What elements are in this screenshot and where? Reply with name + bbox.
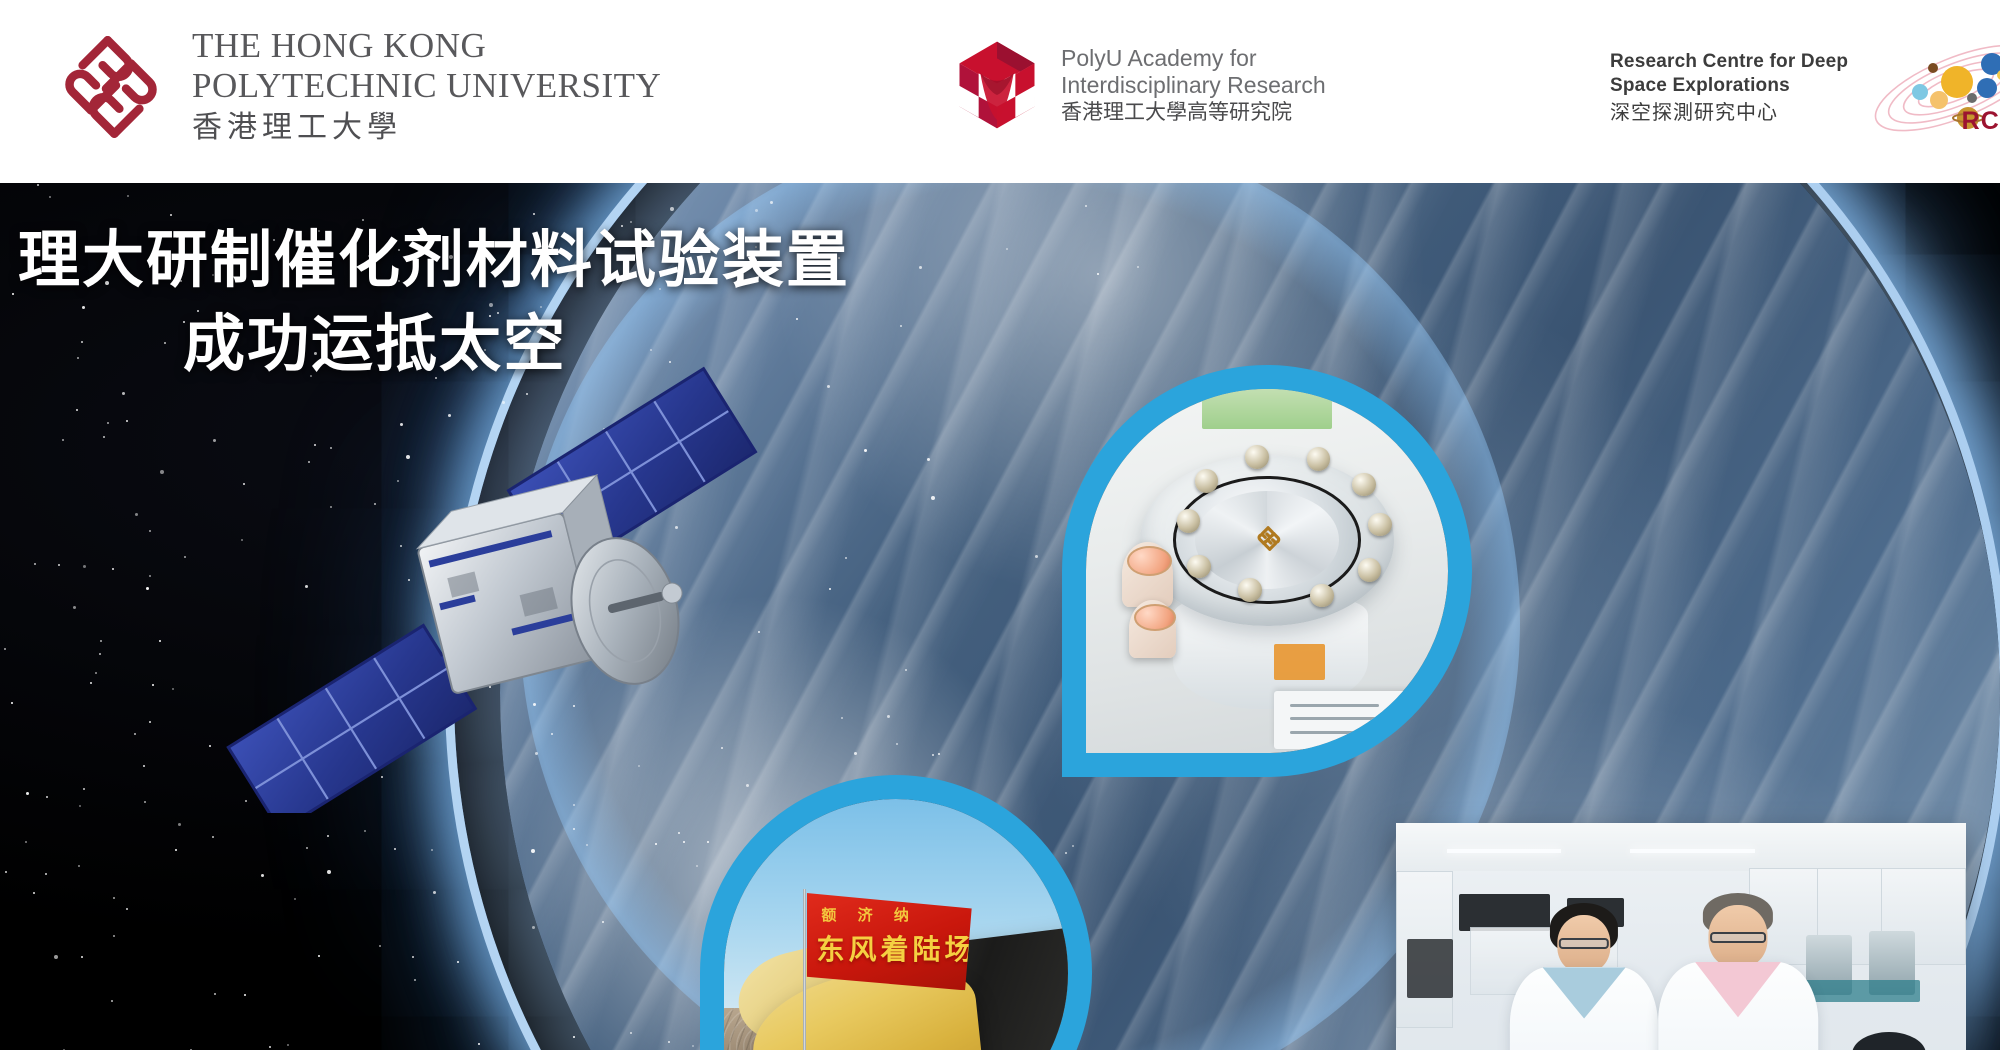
headline: 理大研制催化剂材料试验装置 成功运抵太空 — [0, 218, 920, 386]
apparatus-bolt — [1307, 447, 1331, 471]
rcdse-name-line1: Research Centre for Deep — [1610, 50, 1848, 74]
flag-text-top: 额 济 纳 — [821, 904, 916, 925]
apparatus-bolt — [1368, 513, 1392, 537]
headline-line-2: 成功运抵太空 — [0, 302, 920, 386]
headline-line-1: 理大研制催化剂材料试验装置 — [0, 218, 920, 302]
apparatus-bolt — [1245, 445, 1269, 469]
inset-photo-capsule: 额 济 纳 东风着陆场 — [724, 799, 1068, 1050]
apparatus-placard — [1274, 691, 1433, 749]
pair-wordmark: PolyU Academy for Interdisciplinary Rese… — [1061, 45, 1326, 126]
eyeglasses — [1559, 938, 1609, 949]
polyu-name-line1: THE HONG KONG — [192, 26, 661, 66]
lab-coat — [1658, 962, 1818, 1050]
lab-photo-researchers — [1396, 823, 1966, 1050]
apparatus-bolt — [1358, 558, 1382, 582]
polyu-name-line2: POLYTECHNIC UNIVERSITY — [192, 66, 661, 106]
polyu-wordmark: THE HONG KONG POLYTECHNIC UNIVERSITY 香港理… — [192, 26, 661, 147]
rcdse-wordmark: Research Centre for Deep Space Explorati… — [1610, 50, 1848, 126]
capsule-flag-pole — [803, 889, 806, 1050]
ceiling-light — [1447, 849, 1561, 853]
polyu-name-chinese: 香港理工大學 — [192, 109, 661, 147]
pair-name-line1: PolyU Academy for — [1061, 45, 1326, 72]
shirt-collar — [1543, 967, 1626, 1042]
apparatus-bolt — [1238, 578, 1262, 602]
inset-photo-apparatus — [1086, 389, 1448, 753]
researcher-right — [1658, 890, 1818, 1050]
rcdse-name-line2: Space Explorations — [1610, 74, 1848, 98]
orbit-planets-icon: RCDSE — [1856, 40, 2000, 136]
capsule-red-flag: 额 济 纳 东风着陆场 — [807, 893, 972, 990]
inset-return-capsule: 额 济 纳 东风着陆场 — [700, 775, 1092, 1050]
rcdse-logo: Research Centre for Deep Space Explorati… — [1610, 40, 2000, 136]
satellite-icon — [205, 333, 765, 813]
banner-canvas: THE HONG KONG POLYTECHNIC UNIVERSITY 香港理… — [0, 0, 2000, 1050]
header-bar: THE HONG KONG POLYTECHNIC UNIVERSITY 香港理… — [0, 0, 2000, 183]
pair-name-chinese: 香港理工大學高等研究院 — [1061, 99, 1326, 126]
ceiling-light — [1630, 849, 1755, 853]
apparatus-sample-tube — [1129, 600, 1176, 658]
inset-catalyst-apparatus — [1062, 365, 1472, 777]
flag-text-main: 东风着陆场 — [816, 928, 976, 968]
apparatus-bolt — [1177, 509, 1201, 533]
researcher-left — [1510, 898, 1658, 1050]
apparatus-kapton-tape — [1274, 644, 1325, 680]
hero-section: 理大研制催化剂材料试验装置 成功运抵太空 — [0, 183, 2000, 1050]
lab-equipment — [1407, 939, 1453, 999]
apparatus-bolt — [1187, 555, 1211, 579]
eyeglasses — [1710, 932, 1766, 943]
lab-coat — [1510, 967, 1658, 1050]
polyu-logo: THE HONG KONG POLYTECHNIC UNIVERSITY 香港理… — [52, 26, 661, 147]
rcdse-name-chinese: 深空探測研究中心 — [1610, 98, 1848, 126]
apparatus-sample-tube — [1122, 542, 1173, 608]
apparatus-bolt — [1310, 584, 1334, 608]
rcdse-acronym: RCDSE — [1962, 107, 2000, 136]
apparatus-bolt — [1195, 469, 1219, 493]
pair-logo: PolyU Academy for Interdisciplinary Rese… — [955, 40, 1326, 130]
shirt-collar — [1695, 962, 1781, 1044]
pair-name-line2: Interdisciplinary Research — [1061, 72, 1326, 99]
apparatus-bolt — [1352, 473, 1376, 497]
lab-ceiling — [1396, 823, 1966, 871]
apparatus-green-panel — [1202, 389, 1332, 429]
polyu-academy-cube-icon — [955, 40, 1039, 130]
polyu-knot-icon — [52, 28, 170, 146]
polyu-knot-icon-engraved — [1249, 524, 1289, 553]
